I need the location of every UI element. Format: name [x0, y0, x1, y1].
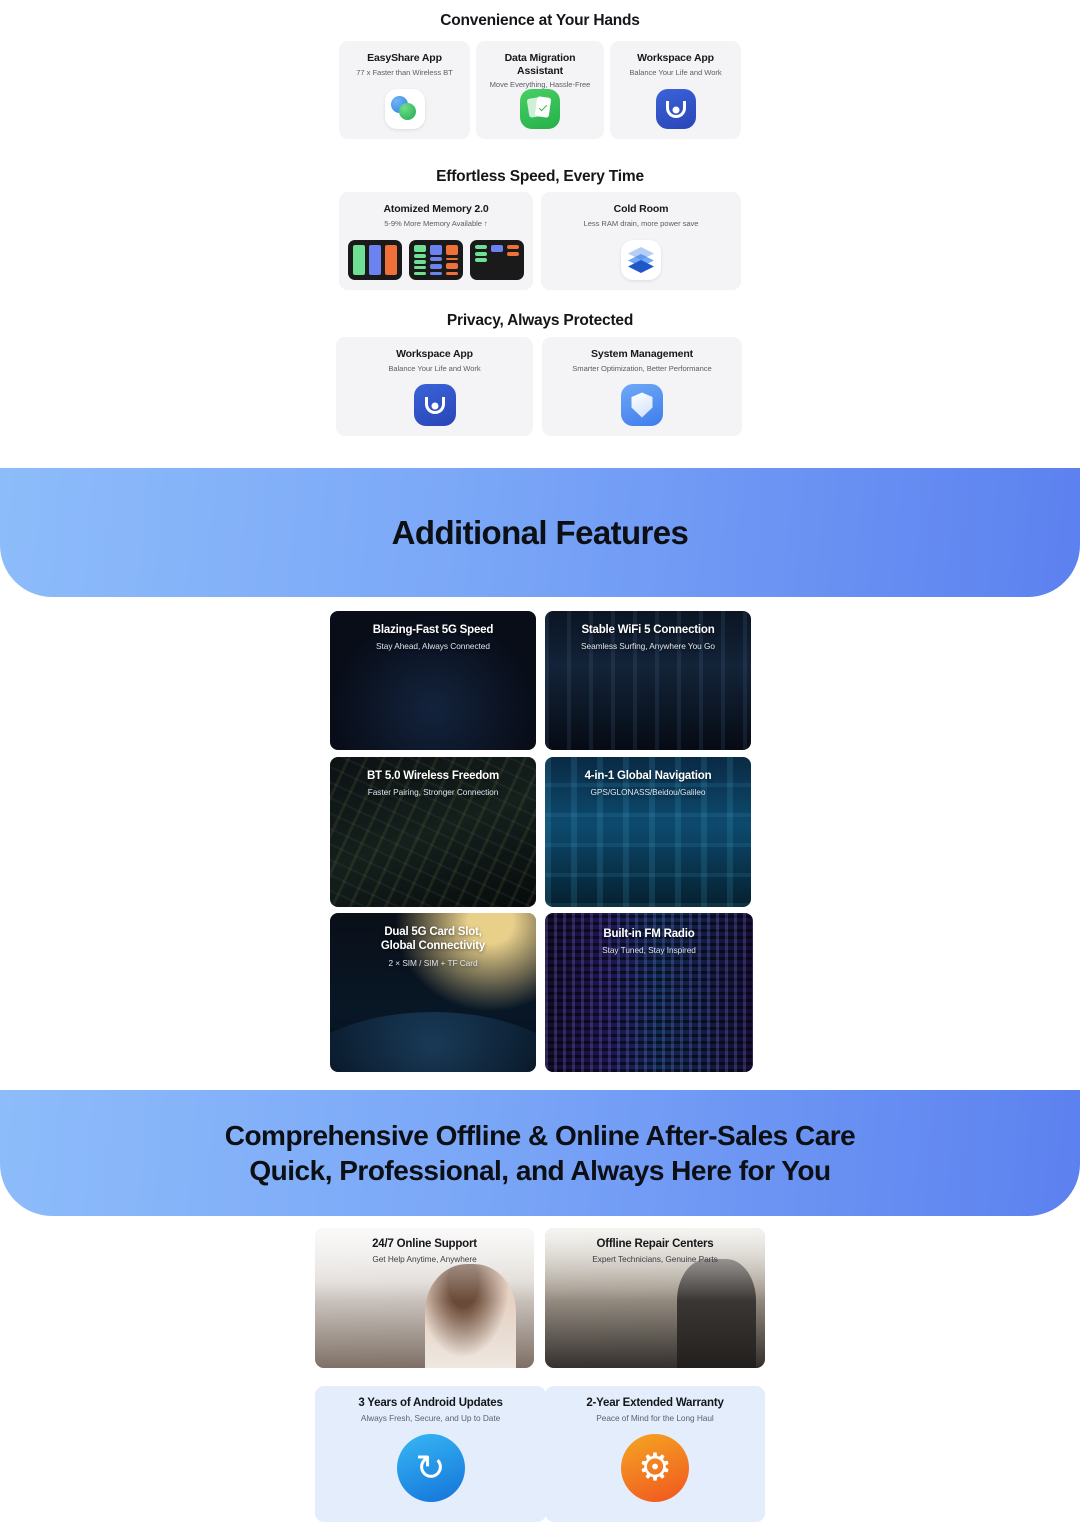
- feature-subtitle: Seamless Surfing, Anywhere You Go: [581, 641, 715, 651]
- banner-after-sales: Comprehensive Offline & Online After-Sal…: [0, 1090, 1080, 1216]
- memory-column-orange: [507, 245, 519, 275]
- memory-block: [507, 252, 519, 256]
- banner-heading: Additional Features: [392, 514, 689, 552]
- card-data-migration-assistant[interactable]: Data Migration Assistant Move Everything…: [476, 41, 604, 139]
- card-easyshare-app[interactable]: EasyShare App 77 x Faster than Wireless …: [339, 41, 470, 139]
- memory-block: [414, 260, 426, 264]
- memory-tile-1: [348, 240, 402, 280]
- memory-block: [475, 258, 487, 262]
- memory-column-blue: [430, 245, 442, 275]
- card-subtitle: Peace of Mind for the Long Haul: [596, 1413, 713, 1423]
- workspace-icon: [414, 384, 456, 426]
- memory-column-orange: [385, 245, 397, 275]
- memory-block: [414, 245, 426, 252]
- memory-blocks-icon: [348, 240, 524, 280]
- memory-block: [414, 272, 426, 275]
- card-subtitle: Expert Technicians, Genuine Parts: [592, 1254, 718, 1264]
- workspace-icon: [656, 89, 696, 129]
- card-subtitle: 5-9% More Memory Available ↑: [384, 219, 488, 228]
- card-online-support[interactable]: 24/7 Online Support Get Help Anytime, An…: [315, 1228, 534, 1368]
- memory-column-green: [414, 245, 426, 275]
- banner-additional-features: Additional Features: [0, 468, 1080, 597]
- section-title-privacy: Privacy, Always Protected: [0, 312, 1080, 330]
- memory-block: [369, 245, 381, 275]
- easyshare-green-circle: [399, 103, 416, 120]
- sync-glyph: ↻: [415, 1450, 445, 1486]
- memory-block: [414, 254, 426, 257]
- memory-block: [430, 264, 442, 269]
- feature-subtitle: Faster Pairing, Stronger Connection: [368, 787, 499, 797]
- card-subtitle: Balance Your Life and Work: [629, 68, 721, 77]
- feature-title: Stable WiFi 5 Connection: [581, 623, 714, 637]
- card-title: Offline Repair Centers: [596, 1238, 713, 1250]
- card-extended-warranty[interactable]: 2-Year Extended Warranty Peace of Mind f…: [545, 1386, 765, 1522]
- feature-title: BT 5.0 Wireless Freedom: [367, 769, 499, 783]
- memory-block: [353, 245, 365, 275]
- memory-block: [385, 245, 397, 275]
- easyshare-icon: [385, 89, 425, 129]
- memory-block: [446, 258, 458, 261]
- feature-card-navigation[interactable]: 4-in-1 Global Navigation GPS/GLONASS/Bei…: [545, 757, 751, 907]
- card-subtitle: 77 x Faster than Wireless BT: [356, 68, 453, 77]
- card-subtitle: Balance Your Life and Work: [388, 364, 480, 373]
- card-workspace-app-privacy[interactable]: Workspace App Balance Your Life and Work: [336, 337, 533, 436]
- card-cold-room[interactable]: Cold Room Less RAM drain, more power sav…: [541, 192, 741, 290]
- memory-block: [446, 263, 458, 270]
- feature-subtitle: Stay Ahead, Always Connected: [376, 641, 490, 651]
- card-title: 24/7 Online Support: [372, 1238, 477, 1250]
- feature-title: Blazing-Fast 5G Speed: [373, 623, 493, 637]
- card-title: Atomized Memory 2.0: [383, 203, 488, 216]
- memory-block: [430, 272, 442, 275]
- feature-title-line1: Dual 5G Card Slot,: [384, 925, 481, 939]
- feature-subtitle: Stay Tuned, Stay Inspired: [602, 945, 696, 955]
- card-title: 3 Years of Android Updates: [358, 1397, 502, 1409]
- memory-column-blue: [491, 245, 503, 275]
- card-title: Cold Room: [614, 203, 669, 216]
- card-workspace-app-convenience[interactable]: Workspace App Balance Your Life and Work: [610, 41, 741, 139]
- card-title: EasyShare App: [367, 52, 442, 65]
- memory-column-green: [475, 245, 487, 275]
- memory-block: [430, 257, 442, 261]
- card-repair-centers[interactable]: Offline Repair Centers Expert Technician…: [545, 1228, 765, 1368]
- memory-column-green: [353, 245, 365, 275]
- section-title-convenience: Convenience at Your Hands: [0, 12, 1080, 30]
- card-atomized-memory[interactable]: Atomized Memory 2.0 5-9% More Memory Ava…: [339, 192, 533, 290]
- card-title: 2-Year Extended Warranty: [586, 1397, 723, 1409]
- feature-card-bluetooth[interactable]: BT 5.0 Wireless Freedom Faster Pairing, …: [330, 757, 536, 907]
- feature-card-fm-radio[interactable]: Built-in FM Radio Stay Tuned, Stay Inspi…: [545, 913, 753, 1072]
- feature-subtitle: 2 × SIM / SIM + TF Card: [388, 958, 477, 968]
- card-subtitle: Less RAM drain, more power save: [584, 219, 699, 228]
- card-title: System Management: [591, 348, 693, 361]
- card-title: Workspace App: [396, 348, 473, 361]
- promo-page: Convenience at Your Hands EasyShare App …: [0, 0, 1080, 1527]
- gear-glyph: ⚙: [638, 1449, 672, 1487]
- card-android-updates[interactable]: 3 Years of Android Updates Always Fresh,…: [315, 1386, 546, 1522]
- memory-block: [414, 266, 426, 269]
- cold-room-layers-icon: [621, 240, 661, 280]
- workspace-dot: [672, 106, 679, 113]
- card-subtitle: Always Fresh, Secure, and Up to Date: [361, 1413, 500, 1423]
- card-system-management[interactable]: System Management Smarter Optimization, …: [542, 337, 742, 436]
- memory-block: [430, 245, 442, 255]
- feature-card-wifi5[interactable]: Stable WiFi 5 Connection Seamless Surfin…: [545, 611, 751, 750]
- card-subtitle: Move Everything, Hassle-Free: [490, 80, 591, 89]
- shield-glyph: [632, 393, 653, 418]
- card-title: Data Migration Assistant: [482, 52, 598, 77]
- feature-card-5g[interactable]: Blazing-Fast 5G Speed Stay Ahead, Always…: [330, 611, 536, 750]
- data-migration-icon: [520, 89, 560, 129]
- feature-title: 4-in-1 Global Navigation: [585, 769, 712, 783]
- memory-block: [446, 245, 458, 255]
- feature-subtitle: GPS/GLONASS/Beidou/Galileo: [591, 787, 706, 797]
- card-title: Workspace App: [637, 52, 714, 65]
- feature-title: Built-in FM Radio: [603, 927, 694, 941]
- memory-block: [507, 245, 519, 249]
- memory-tile-3: [470, 240, 524, 280]
- card-subtitle: Smarter Optimization, Better Performance: [572, 364, 711, 373]
- banner-line-2: Quick, Professional, and Always Here for…: [249, 1153, 830, 1188]
- banner-line-1: Comprehensive Offline & Online After-Sal…: [225, 1118, 856, 1153]
- gear-wrench-icon: ⚙: [621, 1434, 689, 1502]
- memory-block: [491, 245, 503, 252]
- sync-icon: ↻: [397, 1434, 465, 1502]
- section-title-speed: Effortless Speed, Every Time: [0, 168, 1080, 186]
- memory-column-orange: [446, 245, 458, 275]
- memory-tile-2: [409, 240, 463, 280]
- workspace-dot: [431, 402, 438, 409]
- memory-block: [475, 245, 487, 249]
- memory-column-blue: [369, 245, 381, 275]
- feature-title-line2: Global Connectivity: [381, 939, 485, 953]
- card-subtitle: Get Help Anytime, Anywhere: [372, 1254, 476, 1264]
- feature-card-dual-sim[interactable]: Dual 5G Card Slot, Global Connectivity 2…: [330, 913, 536, 1072]
- memory-block: [475, 252, 487, 256]
- shield-icon: [621, 384, 663, 426]
- memory-block: [446, 272, 458, 275]
